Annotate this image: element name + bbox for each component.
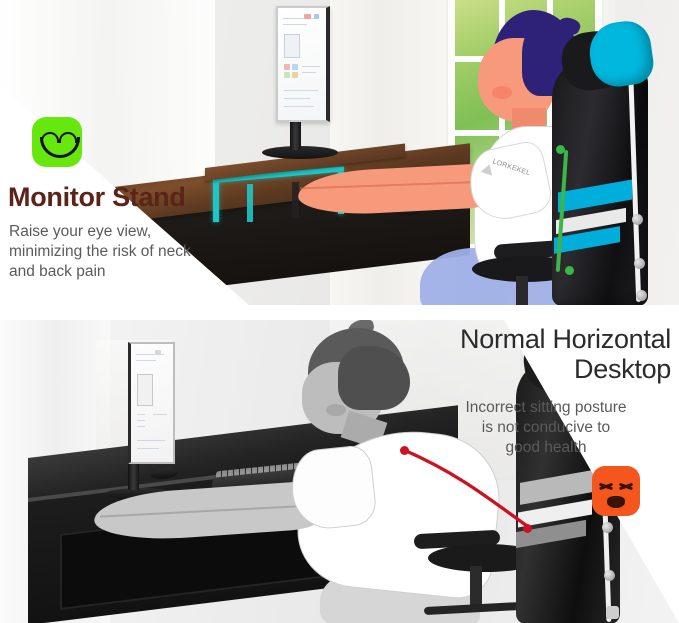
title-line: Desktop [460, 354, 671, 384]
chair-post [516, 276, 528, 305]
description-line: minimizing the risk of neck [9, 242, 249, 262]
spine-dot-upper [400, 446, 409, 455]
description-top: Raise your eye view, minimizing the risk… [9, 222, 249, 281]
spine-dot-lower [523, 524, 532, 533]
description-line: good health [427, 438, 665, 458]
gaming-chair [520, 18, 679, 305]
monitor-stand-leg-left [213, 180, 219, 222]
monitor-screen [276, 6, 330, 122]
chair-knob [634, 258, 645, 269]
sad-eye-left [599, 480, 613, 492]
cheek-blush [326, 404, 346, 416]
page-title-bottom: Normal Horizontal Desktop [460, 324, 671, 384]
description-line: is not conducive to [427, 418, 665, 438]
description-line: Raise your eye view, [9, 222, 249, 242]
comparison-infographic: LORKEKEL [0, 0, 679, 623]
sad-eye-right [619, 480, 633, 492]
chair-knob [636, 290, 647, 301]
happy-mouth [40, 137, 80, 158]
chair-post [470, 566, 482, 606]
title-line: Normal Horizontal [460, 324, 671, 354]
description-line: Incorrect sitting posture [427, 398, 665, 418]
chair-knob [606, 606, 619, 619]
spine-dot-lower [565, 266, 574, 275]
chair-knob [602, 522, 613, 533]
description-bottom: Incorrect sitting posture is not conduci… [427, 398, 665, 457]
chair-knob [604, 570, 615, 581]
sad-mouth [607, 496, 625, 508]
page-title-top: Monitor Stand [8, 182, 186, 213]
monitor-stand-leg-inner [247, 184, 253, 222]
happy-face-icon [32, 117, 82, 167]
monitor-screen [128, 342, 175, 464]
panel-monitor-stand: LORKEKEL [0, 0, 679, 305]
cheek-blush [492, 86, 512, 99]
sad-face-icon [592, 466, 640, 516]
description-line: and back pain [9, 262, 249, 282]
chair-knob [632, 214, 643, 225]
spine-dot-upper [556, 145, 565, 154]
desk-leg-shadow [292, 182, 299, 218]
